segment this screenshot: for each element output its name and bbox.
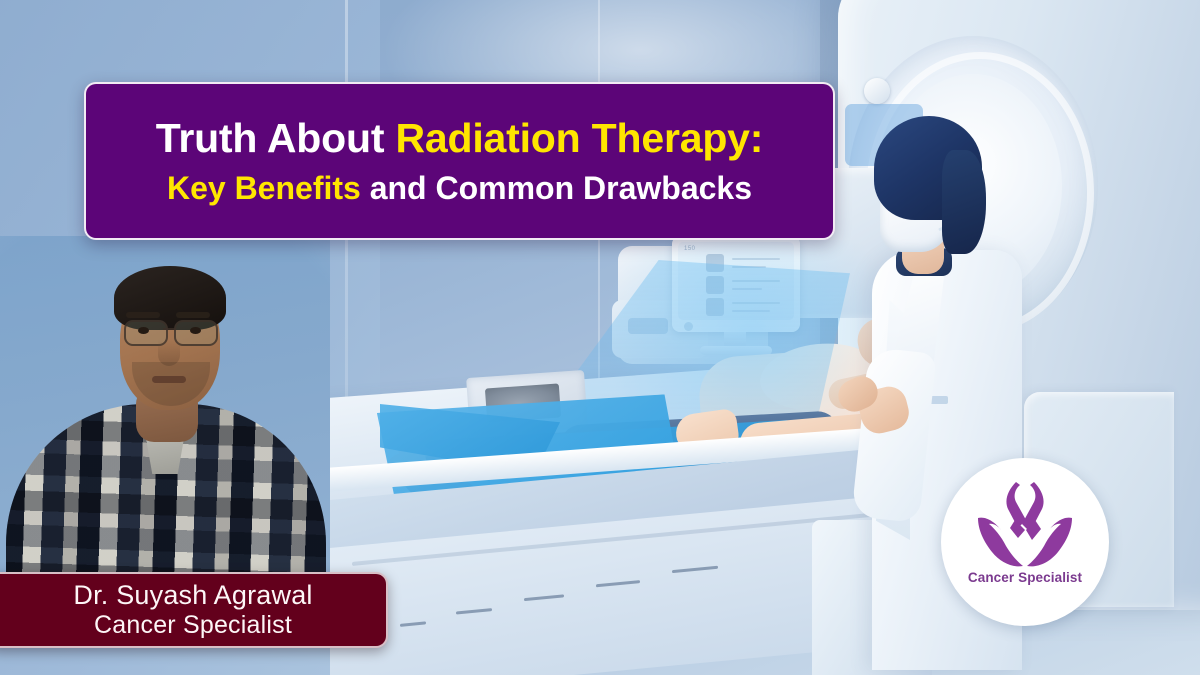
presenter-nameplate: Dr. Suyash Agrawal Cancer Specialist [0, 572, 388, 648]
presenter-eyeglass-bridge [163, 328, 176, 330]
presenter-mouth [152, 376, 186, 383]
linac-knob [864, 78, 890, 104]
presenter-eyebrow-left [126, 312, 160, 318]
title-line-primary: Truth About Radiation Therapy: [156, 117, 763, 160]
presenter-name: Dr. Suyash Agrawal [73, 581, 312, 610]
ribbon-hands-icon [968, 476, 1082, 572]
title-secondary-plain: and Common Drawbacks [361, 170, 752, 206]
presenter-role: Cancer Specialist [94, 611, 292, 639]
presenter-eyebrow-right [176, 312, 210, 318]
thumbnail-canvas: 150 [0, 0, 1200, 675]
presenter-eye-right [190, 327, 201, 334]
title-primary-plain: Truth About [156, 115, 396, 161]
title-banner: Truth About Radiation Therapy: Key Benef… [84, 82, 835, 240]
brand-logo-badge: Cancer Specialist [941, 458, 1109, 626]
presenter-eye-left [138, 327, 149, 334]
brand-logo-caption: Cancer Specialist [941, 570, 1109, 585]
title-primary-highlight: Radiation Therapy: [396, 115, 764, 161]
title-line-secondary: Key Benefits and Common Drawbacks [167, 172, 752, 206]
title-secondary-highlight: Key Benefits [167, 170, 361, 206]
clinician-hair-side [942, 150, 986, 254]
